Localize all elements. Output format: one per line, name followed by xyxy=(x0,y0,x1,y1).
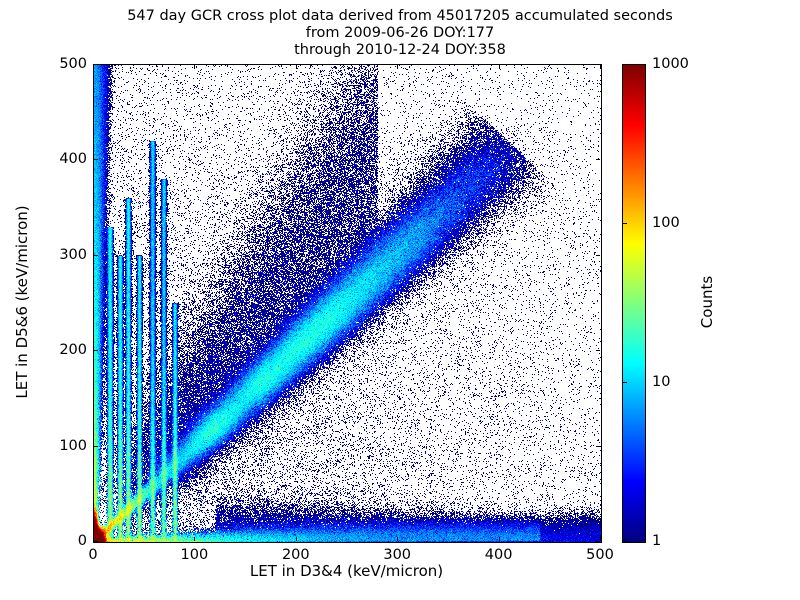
y-tick-mark-right xyxy=(596,541,600,542)
x-tick-mark-top xyxy=(499,65,500,69)
y-tick-label: 500 xyxy=(45,56,87,72)
y-tick-mark xyxy=(94,64,98,65)
y-axis-label: LET in D5&6 (keV/micron) xyxy=(13,205,31,398)
x-tick-mark-top xyxy=(194,65,195,69)
y-tick-mark-right xyxy=(596,255,600,256)
colorbar-tick-label: 100 xyxy=(652,215,680,231)
y-tick-label: 100 xyxy=(45,438,87,454)
colorbar xyxy=(622,64,646,543)
x-tick-label: 100 xyxy=(181,547,209,563)
x-tick-label: 400 xyxy=(485,547,513,563)
chart-title-line-2: from 2009-06-26 DOY:177 xyxy=(0,25,800,42)
x-tick-label: 200 xyxy=(282,547,310,563)
figure-canvas: 547 day GCR cross plot data derived from… xyxy=(0,0,800,600)
x-tick-label: 0 xyxy=(88,547,97,563)
colorbar-tick-mark xyxy=(623,541,627,542)
x-axis-label: LET in D3&4 (keV/micron) xyxy=(93,562,600,580)
plot-area xyxy=(93,64,602,543)
x-tick-label: 500 xyxy=(586,547,614,563)
x-tick-mark-top xyxy=(296,65,297,69)
x-tick-mark xyxy=(499,537,500,541)
y-tick-mark xyxy=(94,446,98,447)
x-tick-label: 300 xyxy=(383,547,411,563)
x-tick-mark-top xyxy=(397,65,398,69)
colorbar-tick-mark xyxy=(623,223,627,224)
chart-title-line-1: 547 day GCR cross plot data derived from… xyxy=(0,8,800,25)
colorbar-tick-mark xyxy=(623,382,627,383)
y-tick-label: 400 xyxy=(45,151,87,167)
colorbar-label: Counts xyxy=(698,276,716,328)
y-tick-mark xyxy=(94,159,98,160)
y-tick-mark xyxy=(94,255,98,256)
density-heatmap xyxy=(94,65,601,542)
colorbar-tick-label: 10 xyxy=(652,374,670,390)
x-tick-mark-top xyxy=(600,65,601,69)
colorbar-gradient xyxy=(623,65,645,542)
y-tick-mark-right xyxy=(596,350,600,351)
x-tick-mark xyxy=(397,537,398,541)
colorbar-tick-mark xyxy=(623,64,627,65)
colorbar-tick-label: 1000 xyxy=(652,56,689,72)
chart-title: 547 day GCR cross plot data derived from… xyxy=(0,8,800,59)
x-tick-mark xyxy=(296,537,297,541)
y-tick-mark-right xyxy=(596,159,600,160)
colorbar-tick-label: 1 xyxy=(652,533,661,549)
y-tick-label: 300 xyxy=(45,247,87,263)
y-tick-label: 0 xyxy=(45,533,87,549)
x-tick-mark xyxy=(600,537,601,541)
y-tick-mark-right xyxy=(596,64,600,65)
y-tick-mark xyxy=(94,350,98,351)
x-tick-mark-top xyxy=(93,65,94,69)
y-tick-mark xyxy=(94,541,98,542)
y-tick-mark-right xyxy=(596,446,600,447)
x-tick-mark xyxy=(194,537,195,541)
y-tick-label: 200 xyxy=(45,342,87,358)
